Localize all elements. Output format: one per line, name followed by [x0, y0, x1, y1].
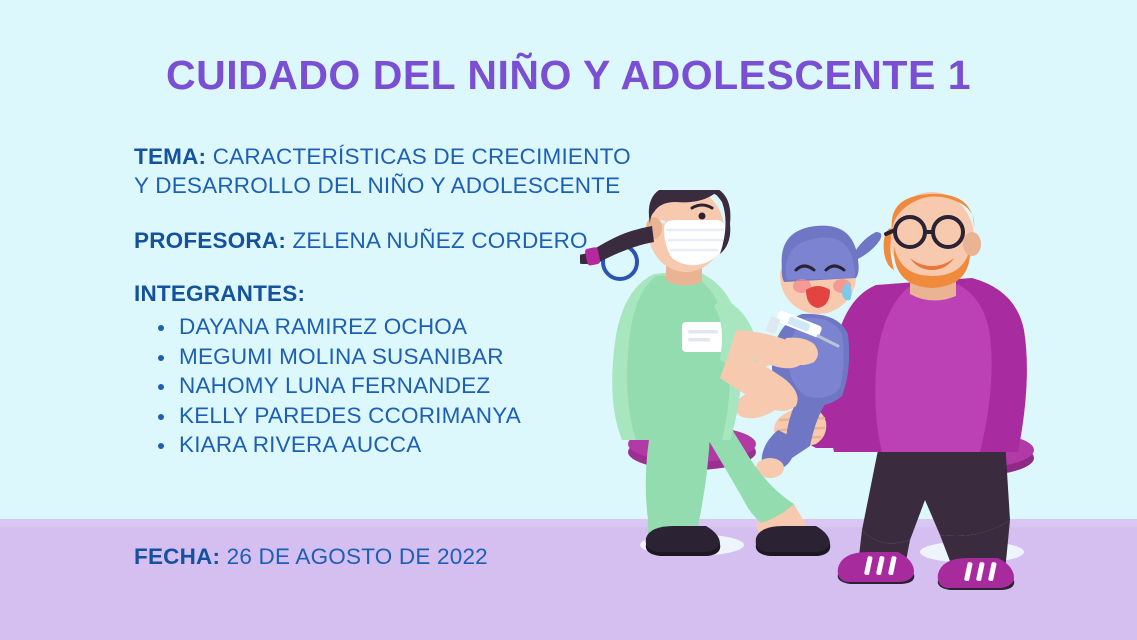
text-column: TEMA: CARACTERÍSTICAS DE CRECIMIENTO Y D…	[134, 142, 694, 460]
shoe-grandfather-left	[838, 552, 915, 584]
spacer-profesora-integrantes	[134, 255, 694, 279]
page-title: CUIDADO DEL NIÑO Y ADOLESCENTE 1	[0, 52, 1137, 99]
tema-line-1: TEMA: CARACTERÍSTICAS DE CRECIMIENTO	[134, 142, 694, 171]
fecha-line: FECHA: 26 DE AGOSTO DE 2022	[134, 544, 488, 570]
list-item: DAYANA RAMIREZ OCHOA	[158, 312, 694, 342]
list-item: MEGUMI MOLINA SUSANIBAR	[158, 342, 694, 372]
spacer-tema-profesora	[134, 200, 694, 226]
tema-value-line1: CARACTERÍSTICAS DE CRECIMIENTO	[206, 144, 631, 169]
integrantes-heading: INTEGRANTES:	[134, 279, 694, 308]
profesora-label: PROFESORA:	[134, 228, 286, 253]
integrantes-list: DAYANA RAMIREZ OCHOA MEGUMI MOLINA SUSAN…	[134, 312, 694, 460]
shoe-nurse-left	[646, 526, 721, 556]
profesora-line: PROFESORA: ZELENA NUÑEZ CORDERO	[134, 226, 694, 255]
slide: CUIDADO DEL NIÑO Y ADOLESCENTE 1 TEMA: C…	[0, 0, 1137, 640]
list-item: NAHOMY LUNA FERNANDEZ	[158, 371, 694, 401]
tema-line-2: Y DESARROLLO DEL NIÑO Y ADOLESCENTE	[134, 171, 694, 200]
shoe-grandfather-right	[938, 558, 1015, 590]
shoe-nurse-right	[756, 526, 831, 556]
profesora-value: ZELENA NUÑEZ CORDERO	[286, 228, 588, 253]
list-item: KELLY PAREDES CCORIMANYA	[158, 401, 694, 431]
fecha-value: 26 DE AGOSTO DE 2022	[220, 544, 488, 569]
integrantes-label: INTEGRANTES:	[134, 281, 305, 306]
list-item: KIARA RIVERA AUCCA	[158, 430, 694, 460]
tema-label: TEMA:	[134, 144, 206, 169]
fecha-label: FECHA:	[134, 544, 220, 569]
